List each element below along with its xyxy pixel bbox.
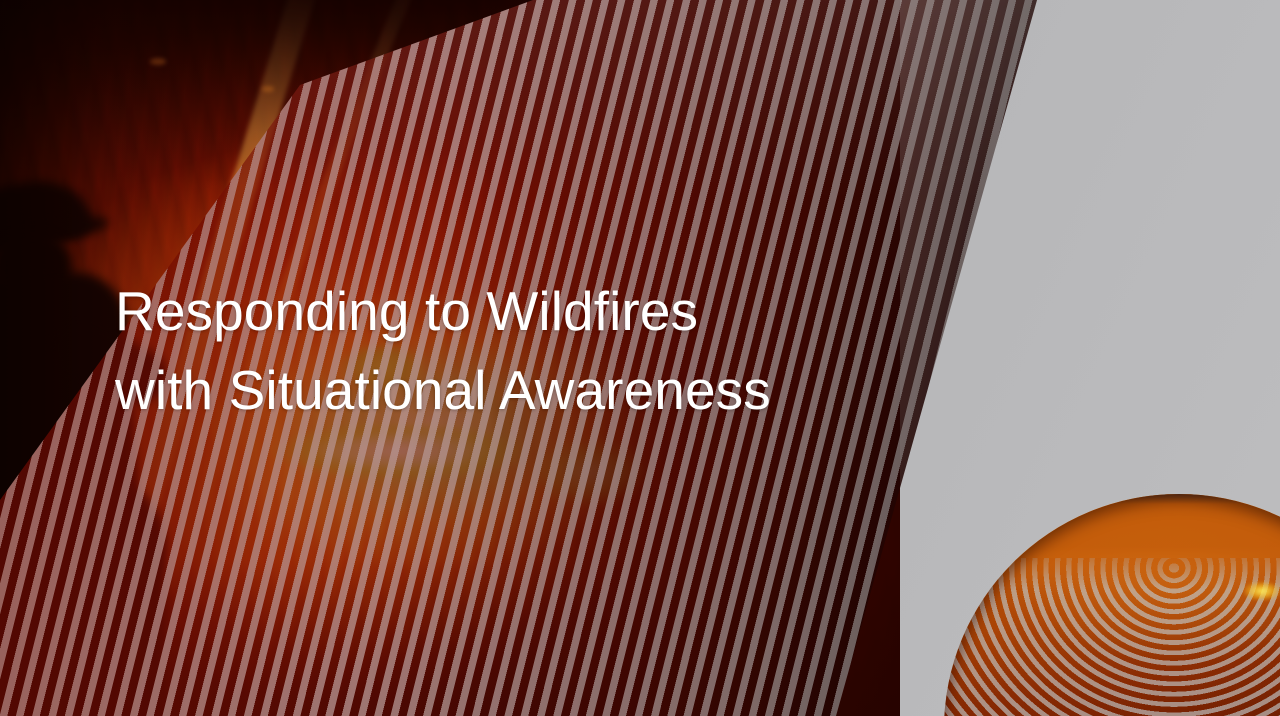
title-line-1: Responding to Wildfires	[115, 272, 875, 351]
bottom-right-arc-circle	[944, 494, 1280, 716]
title-slide: Responding to Wildfires with Situational…	[0, 0, 1280, 716]
title-line-2: with Situational Awareness	[115, 351, 875, 430]
page-title: Responding to Wildfires with Situational…	[115, 272, 875, 430]
